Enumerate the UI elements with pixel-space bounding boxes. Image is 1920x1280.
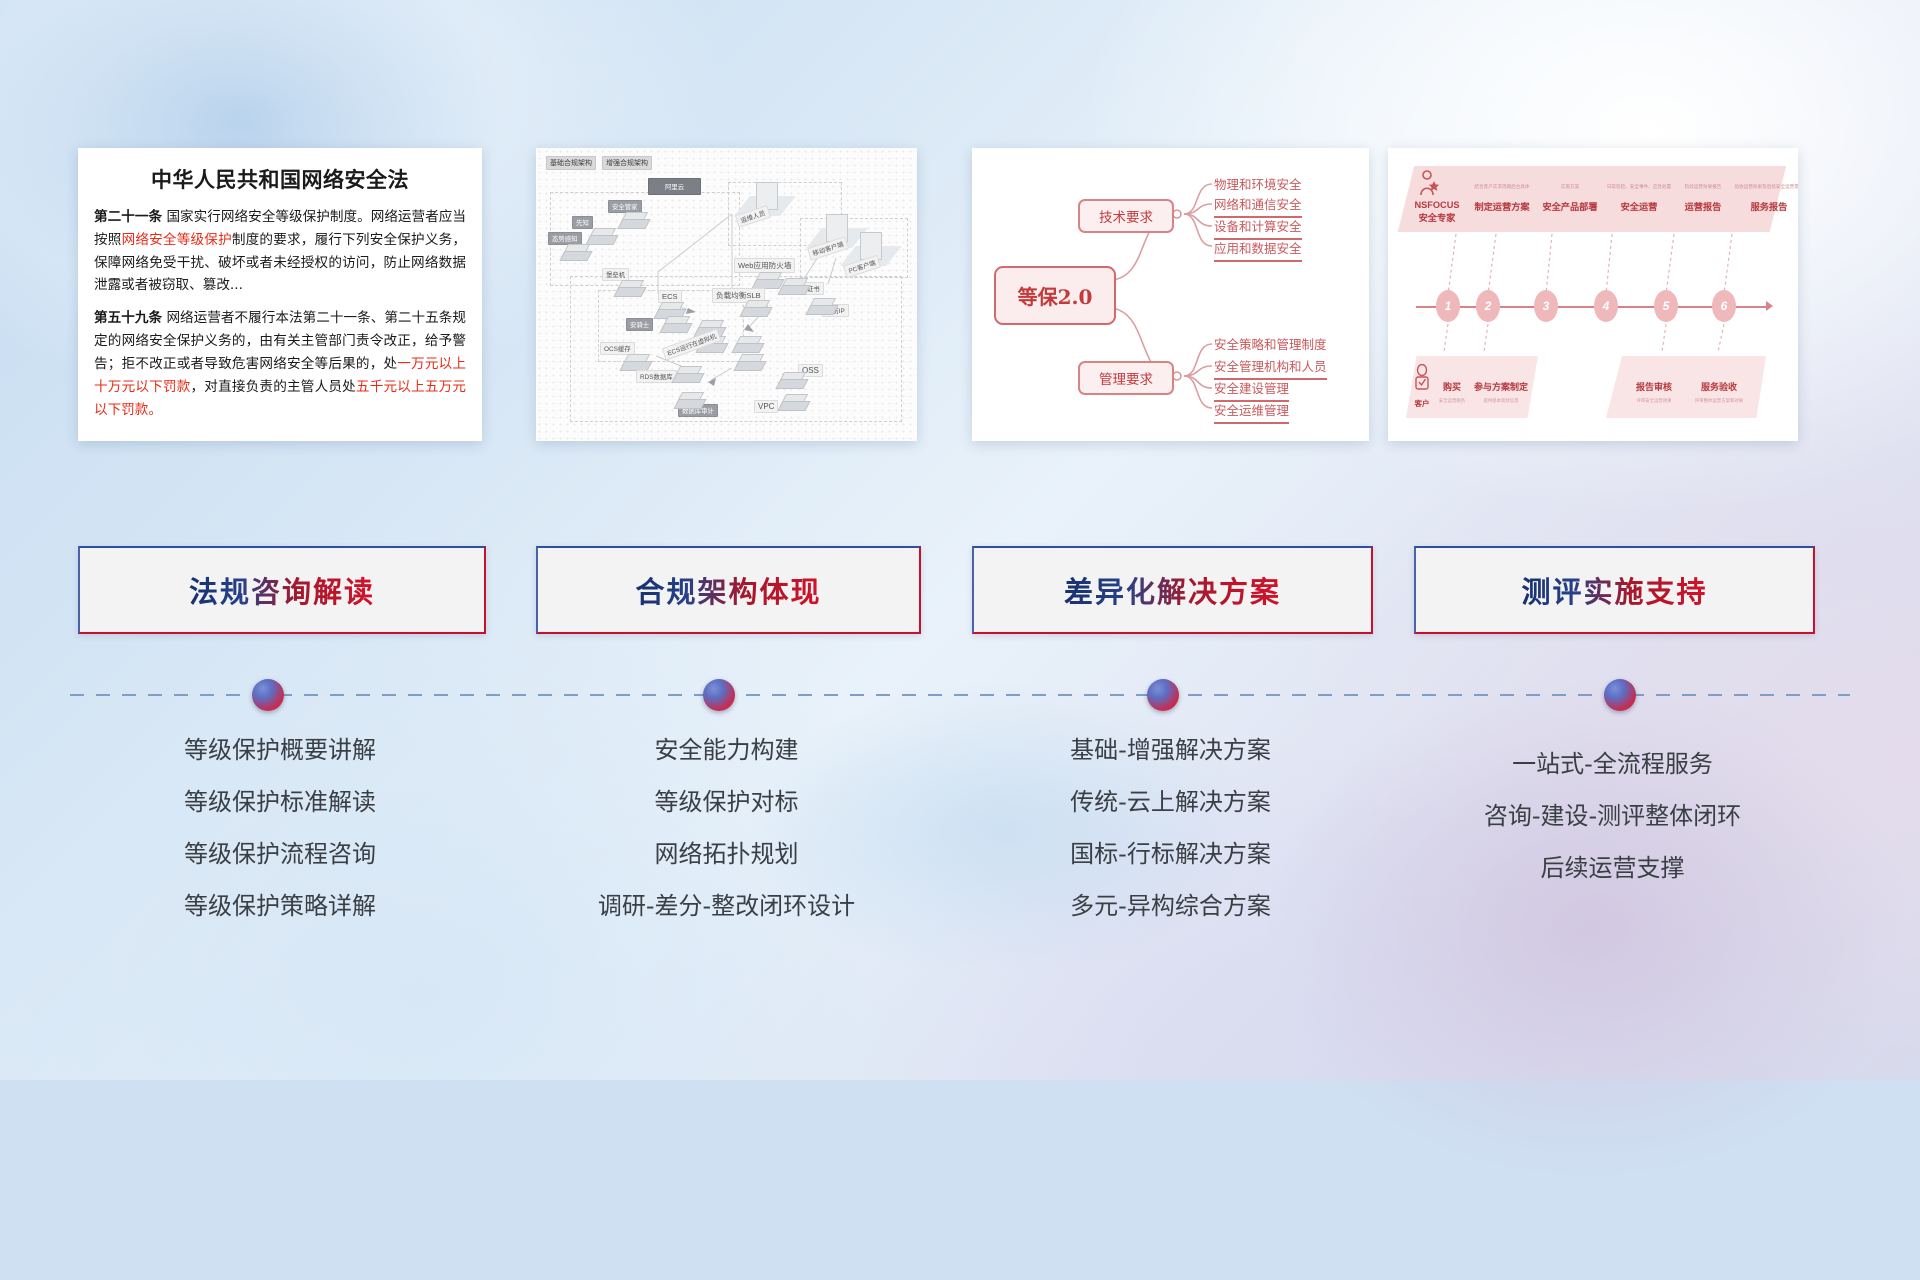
mindmap-leaf-t4: 应用和数据安全 [1214,238,1302,262]
law-title: 中华人民共和国网络安全法 [94,164,466,194]
tab-enhanced-architecture[interactable]: 增强合规架构 [602,156,652,170]
tag-anqishi: 安骑士 [626,318,653,331]
list-item: 咨询-建设-测评整体闭环 [1414,804,1811,828]
icon-node-xianzhi [588,228,614,244]
tag-web-application-firewall: Web应用防火墙 [734,258,795,273]
left-item-1: 购买 安全运营服务 [1432,380,1472,404]
list-item: 国标-行标解决方案 [972,842,1369,866]
tab-basic-architecture[interactable]: 基础合规架构 [546,156,596,170]
left-item-2-title: 参与方案制定 [1470,380,1532,393]
mindmap-leaf-m1: 安全策略和管理制度 [1214,334,1327,356]
section-title-4: 测评实施支持 [1521,569,1707,611]
card-service-timeline: NSFOCUS 安全专家 结合客户实求周期后台具体 制定运营方案 实施方案 安全… [1388,148,1798,441]
article-21-highlight: 网络安全等级保护 [122,232,232,248]
icon-node-db-audit [676,392,702,408]
timeline-step-4[interactable]: 4 [1594,290,1618,322]
icon-node-vpc [780,394,806,410]
section-lists-row: 等级保护概要讲解 等级保护标准解读 等级保护流程咨询 等级保护策略详解 安全能力… [0,738,1920,978]
right-item-2: 服务验收 评审整体运营方案和效果 [1688,380,1750,404]
timeline-step-6[interactable]: 6 [1712,290,1736,322]
mindmap-leaf-t3: 设备和计算安全 [1214,216,1302,240]
section-list-1: 等级保护概要讲解 等级保护标准解读 等级保护流程咨询 等级保护策略详解 [78,738,482,946]
tag-vpc: VPC [754,400,778,413]
law-article-21: 第二十一条 国家实行网络安全等级保护制度。网络运营者应当按照网络安全等级保护制度… [94,206,466,297]
list-item: 等级保护概要讲解 [78,738,482,762]
tag-rds-database: RDS数据库 [636,370,677,383]
article-59-part-b: ，对直接负责的主管人员处 [191,379,356,395]
icon-node-bastion [616,280,642,296]
right-item-1: 报告审核 评审安全运营效果 [1628,380,1680,404]
timeline-step-2[interactable]: 2 [1476,290,1500,322]
mindmap-leaf-t1: 物理和环境安全 [1214,174,1302,196]
icon-node-antiddos [808,298,834,314]
cards-row: 中华人民共和国网络安全法 第二十一条 国家实行网络安全等级保护制度。网络运营者应… [0,148,1920,448]
right-item-1-sub: 评审安全运营效果 [1628,398,1680,404]
section-title-2: 合规架构体现 [635,569,821,611]
rail-knob-4[interactable] [1604,679,1636,711]
section-titles-row: 法规咨询解读 合规架构体现 差异化解决方案 测评实施支持 [0,546,1920,634]
icon-node-ocs [622,354,648,370]
timeline-rail [70,694,1850,696]
article-59-label: 第五十九条 [94,310,162,326]
section-title-box-1[interactable]: 法规咨询解读 [78,546,486,634]
rail-knob-2[interactable] [703,679,735,711]
icon-node-rds [674,366,700,382]
list-item: 网络拓扑规划 [536,842,917,866]
article-21-label: 第二十一条 [94,209,162,225]
list-item: 等级保护策略详解 [78,894,482,918]
mindmap-leaf-m2: 安全管理机构和人员 [1214,356,1327,380]
list-item: 调研-差分-整改闭环设计 [536,894,917,918]
tag-aliyun: 阿里云 [648,178,701,195]
right-item-2-title: 服务验收 [1688,380,1750,393]
list-item: 多元-异构综合方案 [972,894,1369,918]
mindmap-branch-management: 管理要求 [1078,361,1174,395]
mindmap-root: 等保2.0 [994,266,1116,325]
left-item-2-sub: 提供基本现状信息 [1470,398,1532,404]
card-mindmap-dengbao: 等保2.0 技术要求 物理和环境安全 网络和通信安全 设备和计算安全 应用和数据… [972,148,1369,441]
mindmap-leaf-m3: 安全建设管理 [1214,378,1289,402]
list-item: 等级保护对标 [536,790,917,814]
list-item: 传统-云上解决方案 [972,790,1369,814]
icon-node-ca [780,278,806,294]
timeline-step-1[interactable]: 1 [1436,290,1460,322]
icon-node-ecs-4 [734,336,760,352]
icon-node-anqishi [662,316,688,332]
card-compliance-architecture: 基础合规架构 增强合规架构 阿里云 安全管家 先知 态势感知 堡垒机 运维人员 … [536,148,917,441]
icon-node-butler [620,212,646,228]
list-item: 一站式-全流程服务 [1414,752,1811,776]
icon-node-waf [754,272,780,288]
timeline-arrow-icon [1766,301,1773,311]
icon-node-oss [778,372,804,388]
mindmap-branch-technical: 技术要求 [1078,199,1174,233]
customer-person-icon [1412,364,1432,399]
right-item-1-title: 报告审核 [1628,380,1680,393]
law-article-59: 第五十九条 网络运营者不履行本法第二十一条、第二十五条规定的网络安全保护义务的，… [94,307,466,421]
list-item: 基础-增强解决方案 [972,738,1369,762]
list-item: 等级保护流程咨询 [78,842,482,866]
mindmap-leaf-t2: 网络和通信安全 [1214,194,1302,218]
mindmap-leaf-m4: 安全运维管理 [1214,400,1289,424]
section-title-box-3[interactable]: 差异化解决方案 [972,546,1373,634]
icon-node-awareness [562,244,588,260]
mindmap: 等保2.0 技术要求 物理和环境安全 网络和通信安全 设备和计算安全 应用和数据… [972,148,1369,441]
icon-node-slb [742,300,768,316]
rail-knob-3[interactable] [1147,679,1179,711]
section-list-2: 安全能力构建 等级保护对标 网络拓扑规划 调研-差分-整改闭环设计 [536,738,917,946]
list-item: 后续运营支撑 [1414,856,1811,880]
right-item-2-sub: 评审整体运营方案和效果 [1688,398,1750,404]
section-title-3: 差异化解决方案 [1064,569,1281,611]
list-item: 安全能力构建 [536,738,917,762]
section-list-4: 一站式-全流程服务 咨询-建设-测评整体闭环 后续运营支撑 [1414,752,1811,908]
section-list-3: 基础-增强解决方案 传统-云上解决方案 国标-行标解决方案 多元-异构综合方案 [972,738,1369,946]
left-item-2: 参与方案制定 提供基本现状信息 [1470,380,1532,404]
icon-node-ecs-5 [736,354,762,370]
section-title-box-2[interactable]: 合规架构体现 [536,546,921,634]
rail-knob-1[interactable] [252,679,284,711]
list-item: 等级保护标准解读 [78,790,482,814]
service-timeline: NSFOCUS 安全专家 结合客户实求周期后台具体 制定运营方案 实施方案 安全… [1388,148,1798,441]
architecture-diagram: 基础合规架构 增强合规架构 阿里云 安全管家 先知 态势感知 堡垒机 运维人员 … [536,148,917,441]
timeline-step-5[interactable]: 5 [1654,290,1678,322]
law-text-block: 中华人民共和国网络安全法 第二十一条 国家实行网络安全等级保护制度。网络运营者应… [78,148,482,441]
timeline-step-3[interactable]: 3 [1534,290,1558,322]
left-item-1-sub: 安全运营服务 [1432,398,1472,404]
left-item-1-title: 购买 [1432,380,1472,393]
section-title-box-4[interactable]: 测评实施支持 [1414,546,1815,634]
section-title-1: 法规咨询解读 [189,569,375,611]
card-cybersecurity-law: 中华人民共和国网络安全法 第二十一条 国家实行网络安全等级保护制度。网络运营者应… [78,148,482,441]
